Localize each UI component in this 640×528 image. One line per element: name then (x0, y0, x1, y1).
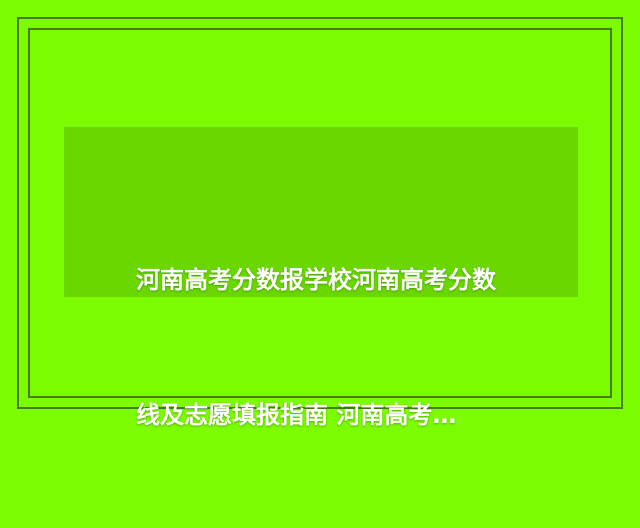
page-root: 河南高考分数报学校河南高考分数 线及志愿填报指南 河南高考… (0, 0, 640, 425)
headline-line-1: 河南高考分数报学校河南高考分数 (136, 258, 536, 303)
headline-line-2: 线及志愿填报指南 河南高考… (136, 393, 536, 438)
headline-text-block: 河南高考分数报学校河南高考分数 线及志愿填报指南 河南高考… (136, 168, 536, 528)
